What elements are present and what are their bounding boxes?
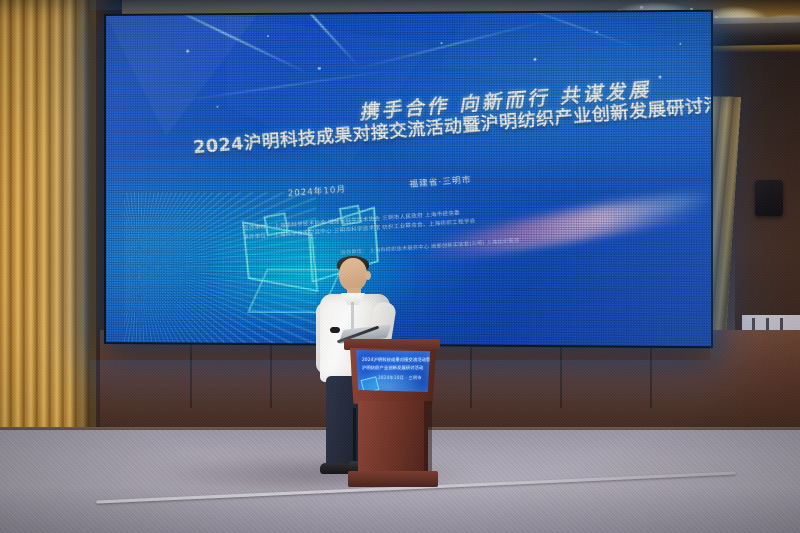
event-location: 福建省·三明市 <box>409 173 472 190</box>
podium-edge <box>424 401 432 479</box>
speaker-left-shoe <box>320 463 350 474</box>
conference-photo: 携手合作 向新而行 共谋发展 2024沪明科技成果对接交流活动暨沪明纺织产业创新… <box>0 0 800 533</box>
podium-sign-line-3: 2024年10月 · 三明市 <box>378 375 422 381</box>
podium-base <box>348 471 438 487</box>
podium-sign-line-1: 2024沪明科技成果对接交流活动暨 <box>362 357 430 363</box>
speaker-head <box>339 258 367 291</box>
event-date-location: 2024年10月 福建省·三明市 <box>287 161 637 200</box>
speaker-ear <box>365 271 371 280</box>
led-screen-content: 携手合作 向新而行 共谋发展 2024沪明科技成果对接交流活动暨沪明纺织产业创新… <box>106 12 711 346</box>
podium-sign-cube-icon <box>361 376 380 392</box>
podium-sign: 2024沪明科技成果对接交流活动暨 沪明纺织产业创新发展研讨活动 2024年10… <box>356 350 430 392</box>
podium-sign-line-2: 沪明纺织产业创新发展研讨活动 <box>362 365 423 371</box>
podium-body <box>358 401 428 479</box>
podium: 2024沪明科技成果对接交流活动暨 沪明纺织产业创新发展研讨活动 2024年10… <box>348 339 436 487</box>
wall-speaker-icon <box>755 180 783 216</box>
led-screen: 携手合作 向新而行 共谋发展 2024沪明科技成果对接交流活动暨沪明纺织产业创新… <box>104 10 713 349</box>
microphone-icon <box>330 327 340 333</box>
event-date: 2024年10月 <box>287 183 346 199</box>
